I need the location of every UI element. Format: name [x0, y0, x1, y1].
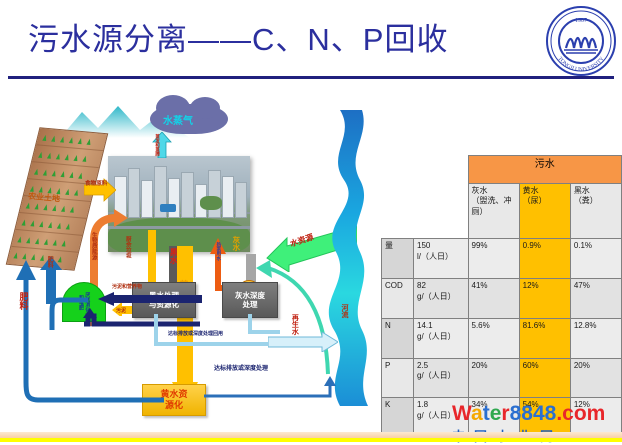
column-header-blackwater: 黑水 （粪）	[570, 183, 621, 239]
table-main-header: 污水	[468, 156, 622, 184]
row-amount-amount: 150 l/（人日）	[414, 239, 469, 279]
wastewater-source-separation-diagram: 农业土地 水蒸气 蒸发和蒸腾 水资源 再生水	[0, 96, 400, 442]
river-label: 河流	[339, 304, 349, 318]
food-material-label: 食物原料	[85, 182, 107, 188]
row-amount-yellowwater: 0.9%	[519, 239, 570, 279]
discharge-reuse-arrow-1	[268, 332, 338, 352]
row-cod-amount: 82 g/（人日）	[414, 279, 469, 319]
row-label-p: P	[382, 358, 414, 398]
row-label-amount: 量	[382, 239, 414, 279]
column-header-yellowwater: 黄水 （尿）	[519, 183, 570, 239]
evaporation-arrow	[150, 132, 174, 158]
row-p-amount: 2.5 g/（人日）	[414, 358, 469, 398]
table-row: COD 82 g/（人日） 41% 12% 47%	[382, 279, 622, 319]
column-header-greywater: 灰水 （盥洗、冲厕）	[468, 183, 519, 239]
row-p-yellowwater: 60%	[519, 358, 570, 398]
row-amount-greywater: 99%	[468, 239, 519, 279]
heat-pump-pipe-label: 热泵用水	[216, 242, 221, 260]
page-title: 污水源分离——C、N、P回收	[28, 14, 448, 59]
row-n-greywater: 5.6%	[468, 318, 519, 358]
fertilizer-pipe-long	[8, 256, 168, 408]
greywater-advanced-treatment-box[interactable]: 灰水深度 处理	[222, 282, 278, 318]
tongji-university-logo-icon: 1907 TONGJI UNIVERSITY	[544, 4, 618, 78]
river-shape	[310, 110, 376, 406]
title-divider	[8, 76, 614, 79]
fertilizer-label-left: 肥料	[18, 292, 27, 310]
discharge-reuse-label-1: 达标排放或深度处理回用	[168, 332, 223, 337]
table-corner-1	[382, 156, 414, 184]
table-row: N 14.1 g/（人日） 5.6% 81.6% 12.8%	[382, 318, 622, 358]
row-amount-blackwater: 0.1%	[570, 239, 621, 279]
row-n-blackwater: 12.8%	[570, 318, 621, 358]
table-header-row-sub: 灰水 （盥洗、冲厕） 黄水 （尿） 黑水 （粪）	[382, 183, 622, 239]
row-cod-greywater: 41%	[468, 279, 519, 319]
table-corner-4	[414, 183, 469, 239]
row-p-greywater: 20%	[468, 358, 519, 398]
row-cod-blackwater: 47%	[570, 279, 621, 319]
table-row: P 2.5 g/（人日） 20% 60% 20%	[382, 358, 622, 398]
svg-text:1907: 1907	[575, 18, 587, 24]
wastewater-composition-table: 污水 灰水 （盥洗、冲厕） 黄水 （尿） 黑水 （粪） 量 150 l/（人日）…	[381, 155, 622, 438]
table-header-row-main: 污水	[382, 156, 622, 184]
row-n-yellowwater: 81.6%	[519, 318, 570, 358]
discharge-reuse-arrow-2	[204, 376, 340, 416]
row-label-cod: COD	[382, 279, 414, 319]
table-corner-2	[414, 156, 469, 184]
bottom-accent-band	[0, 438, 622, 442]
water-vapor-label: 水蒸气	[163, 112, 193, 127]
row-label-n: N	[382, 318, 414, 358]
discharge-reuse-label-2: 达标排放或深度处理	[214, 366, 268, 372]
evaporation-label: 蒸发和蒸腾	[155, 134, 160, 156]
table-corner-3	[382, 183, 414, 239]
table-row: 量 150 l/（人日） 99% 0.9% 0.1%	[382, 239, 622, 279]
row-n-amount: 14.1 g/（人日）	[414, 318, 469, 358]
row-cod-yellowwater: 12%	[519, 279, 570, 319]
row-p-blackwater: 20%	[570, 358, 621, 398]
